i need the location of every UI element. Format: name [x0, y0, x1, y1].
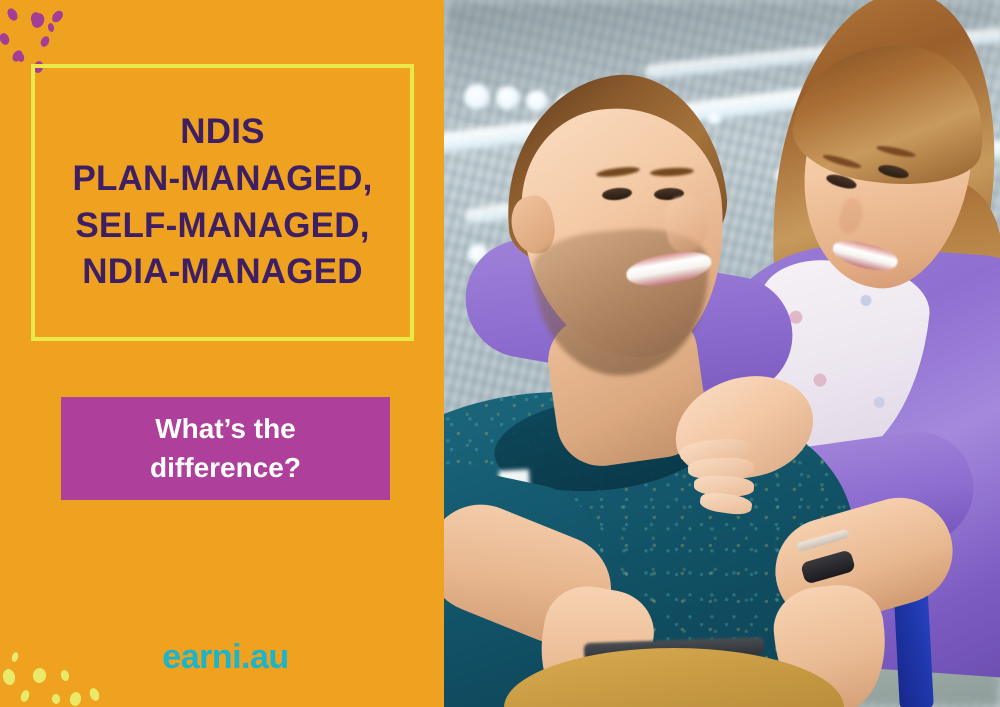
page-title: NDIS PLAN-MANAGED, SELF-MANAGED, NDIA-MA… — [68, 109, 376, 295]
promo-graphic: NDIS PLAN-MANAGED, SELF-MANAGED, NDIA-MA… — [0, 0, 1000, 707]
confetti-dot — [51, 694, 60, 705]
confetti-dot — [47, 22, 55, 32]
bokeh-light — [496, 86, 520, 110]
bokeh-light — [708, 112, 721, 125]
confetti-dot — [50, 9, 65, 25]
confetti-dot — [69, 691, 83, 707]
confetti-dot — [0, 32, 11, 46]
subtitle-badge: What’s the difference? — [61, 397, 390, 500]
subtitle-text: What’s the difference? — [150, 410, 301, 487]
confetti-dot — [32, 667, 47, 684]
left-orange-panel: NDIS PLAN-MANAGED, SELF-MANAGED, NDIA-MA… — [0, 0, 444, 707]
confetti-dot — [2, 668, 17, 686]
confetti-dot — [88, 687, 101, 702]
confetti-dot — [39, 35, 51, 48]
confetti-dot — [11, 651, 20, 662]
confetti-dot — [5, 7, 19, 23]
headline-frame: NDIS PLAN-MANAGED, SELF-MANAGED, NDIA-MA… — [31, 64, 414, 341]
bokeh-light — [526, 90, 548, 112]
hero-photo — [444, 0, 1000, 707]
confetti-dot — [19, 689, 31, 703]
bokeh-light — [464, 84, 490, 110]
brand-logo[interactable]: earni.au — [61, 640, 390, 674]
